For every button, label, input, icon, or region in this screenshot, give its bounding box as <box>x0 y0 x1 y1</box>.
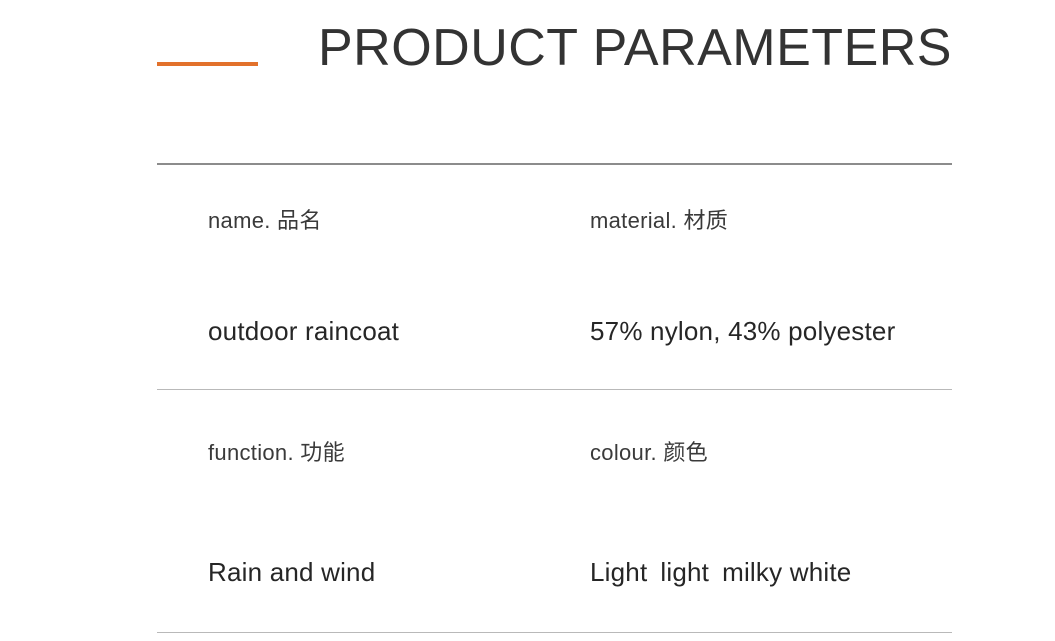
product-parameters-page: PRODUCT PARAMETERS name. 品名 material. 材质… <box>0 0 1055 641</box>
spec-value-function: Rain and wind <box>157 557 547 588</box>
spec-label-function: function. 功能 <box>157 435 547 467</box>
table-row: outdoor raincoat 57% nylon, 43% polyeste… <box>157 273 952 389</box>
spec-label-name: name. 品名 <box>157 203 547 235</box>
product-spec-table: name. 品名 material. 材质 outdoor raincoat 5… <box>157 163 952 633</box>
page-title: PRODUCT PARAMETERS <box>0 18 952 78</box>
spec-value-colour-part2: light <box>660 557 709 587</box>
spec-value-colour-part3: milky white <box>722 557 851 587</box>
spec-label-colour: colour. 颜色 <box>547 435 952 467</box>
table-bottom-divider <box>157 632 952 633</box>
spec-value-colour: Lightlightmilky white <box>547 557 952 588</box>
spec-label-material: material. 材质 <box>547 203 952 235</box>
table-row: function. 功能 colour. 颜色 <box>157 390 952 512</box>
table-row: name. 品名 material. 材质 <box>157 165 952 273</box>
spec-value-colour-part1: Light <box>590 557 647 587</box>
spec-value-name: outdoor raincoat <box>157 316 547 347</box>
spec-value-material: 57% nylon, 43% polyester <box>547 316 952 347</box>
table-row: Rain and wind Lightlightmilky white <box>157 512 952 632</box>
page-header: PRODUCT PARAMETERS <box>0 0 1055 150</box>
